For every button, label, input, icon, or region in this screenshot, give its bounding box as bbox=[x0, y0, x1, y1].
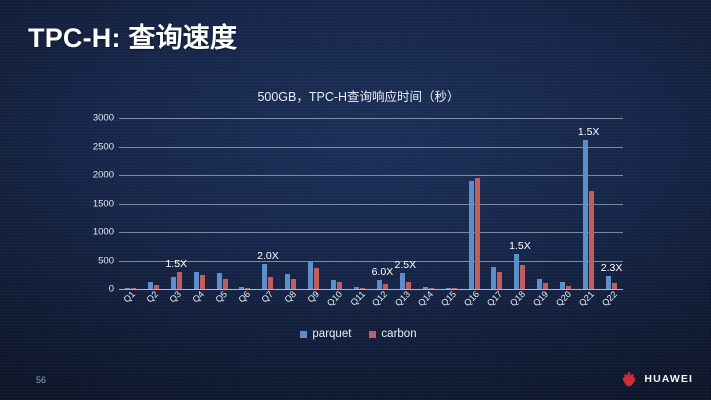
y-axis-tick-label: 500 bbox=[98, 255, 114, 266]
bar-group bbox=[256, 118, 279, 289]
bar-carbon bbox=[497, 272, 502, 289]
x-axis-tick-label: Q22 bbox=[599, 289, 618, 308]
bar-annotation: 1.5X bbox=[578, 126, 600, 138]
bar-parquet bbox=[377, 280, 382, 289]
x-axis-tick-label: Q21 bbox=[577, 289, 596, 308]
bar-annotation: 2.5X bbox=[395, 259, 417, 271]
y-axis-tick-label: 3000 bbox=[93, 113, 114, 124]
bar-group bbox=[463, 118, 486, 289]
x-axis-tick-label: Q4 bbox=[191, 289, 207, 305]
x-axis-tick-label: Q17 bbox=[485, 289, 504, 308]
x-axis-tick-label: Q8 bbox=[282, 289, 298, 305]
x-axis-tick-label: Q3 bbox=[168, 289, 184, 305]
bar-parquet bbox=[537, 279, 542, 289]
x-axis-tick-label: Q15 bbox=[439, 289, 458, 308]
bar-parquet bbox=[148, 282, 153, 289]
bar-carbon bbox=[223, 279, 228, 289]
x-axis-tick-label: Q12 bbox=[370, 289, 389, 308]
chart-plot-area: 050010001500200025003000 1.5X2.0X6.0X2.5… bbox=[119, 118, 623, 289]
x-axis-tick-label: Q6 bbox=[237, 289, 253, 305]
bar-group bbox=[508, 118, 531, 289]
chart-legend: parquetcarbon bbox=[86, 328, 631, 340]
chart-bars bbox=[119, 118, 623, 289]
bar-parquet bbox=[560, 282, 565, 289]
bar-parquet bbox=[606, 276, 611, 289]
bar-carbon bbox=[520, 265, 525, 289]
bar-annotation: 2.3X bbox=[601, 262, 623, 274]
bar-carbon bbox=[337, 282, 342, 289]
x-axis-tick-label: Q20 bbox=[554, 289, 573, 308]
bar-carbon bbox=[268, 277, 273, 289]
x-axis-tick-label: Q2 bbox=[145, 289, 161, 305]
x-axis-tick-label: Q7 bbox=[259, 289, 275, 305]
legend-swatch-icon bbox=[369, 331, 376, 338]
y-axis-tick-label: 2500 bbox=[93, 141, 114, 152]
bar-parquet bbox=[171, 277, 176, 289]
bar-parquet bbox=[583, 140, 588, 289]
slide-page-number: 56 bbox=[36, 375, 46, 385]
bar-annotation: 6.0X bbox=[372, 266, 394, 278]
y-axis-tick-label: 1500 bbox=[93, 198, 114, 209]
x-axis-tick-label: Q10 bbox=[325, 289, 344, 308]
bar-group bbox=[119, 118, 142, 289]
bar-annotation: 1.5X bbox=[165, 258, 187, 270]
bar-group bbox=[302, 118, 325, 289]
bar-carbon bbox=[291, 279, 296, 289]
bar-group bbox=[577, 118, 600, 289]
bar-group bbox=[531, 118, 554, 289]
x-axis-tick-label: Q14 bbox=[416, 289, 435, 308]
x-axis-tick-label: Q5 bbox=[214, 289, 230, 305]
bar-group bbox=[348, 118, 371, 289]
bar-carbon bbox=[406, 282, 411, 289]
brand-text: HUAWEI bbox=[644, 373, 693, 385]
bar-carbon bbox=[475, 178, 480, 289]
bar-parquet bbox=[285, 274, 290, 289]
bar-group bbox=[142, 118, 165, 289]
bar-carbon bbox=[200, 275, 205, 289]
bar-group bbox=[279, 118, 302, 289]
bar-parquet bbox=[491, 267, 496, 289]
bar-parquet bbox=[514, 254, 519, 289]
bar-group bbox=[325, 118, 348, 289]
bar-annotation: 2.0X bbox=[257, 250, 279, 262]
bar-group bbox=[371, 118, 394, 289]
bar-parquet bbox=[331, 280, 336, 289]
bar-group bbox=[211, 118, 234, 289]
legend-item-carbon[interactable]: carbon bbox=[369, 328, 416, 340]
y-axis-tick-label: 2000 bbox=[93, 170, 114, 181]
bar-parquet bbox=[262, 264, 267, 289]
legend-swatch-icon bbox=[300, 331, 307, 338]
x-axis-tick-label: Q16 bbox=[462, 289, 481, 308]
bar-group bbox=[417, 118, 440, 289]
bar-carbon bbox=[177, 272, 182, 289]
bar-annotation: 1.5X bbox=[509, 240, 531, 252]
bar-group bbox=[234, 118, 257, 289]
bar-carbon bbox=[314, 268, 319, 289]
bar-group bbox=[440, 118, 463, 289]
bar-parquet bbox=[400, 273, 405, 289]
x-axis-tick-label: Q19 bbox=[531, 289, 550, 308]
page-title: TPC-H: 查询速度 bbox=[28, 16, 237, 55]
x-axis-tick-label: Q11 bbox=[348, 289, 367, 308]
chart-container: 500GB，TPC-H查询响应时间（秒） 0500100015002000250… bbox=[86, 86, 631, 356]
bar-parquet bbox=[308, 261, 313, 289]
legend-item-parquet[interactable]: parquet bbox=[300, 328, 351, 340]
x-axis-tick-label: Q9 bbox=[305, 289, 321, 305]
huawei-logo: HUAWEI bbox=[619, 371, 693, 386]
y-axis-tick-label: 1000 bbox=[93, 227, 114, 238]
bar-group bbox=[188, 118, 211, 289]
chart-title: 500GB，TPC-H查询响应时间（秒） bbox=[86, 86, 631, 105]
bar-parquet bbox=[217, 273, 222, 289]
legend-label: carbon bbox=[381, 328, 416, 340]
x-axis-tick-label: Q13 bbox=[393, 289, 412, 308]
huawei-flower-icon bbox=[619, 371, 638, 386]
x-axis-tick-label: Q18 bbox=[508, 289, 527, 308]
slide-canvas: TPC-H: 查询速度 500GB，TPC-H查询响应时间（秒） 0500100… bbox=[0, 0, 711, 400]
bar-parquet bbox=[469, 181, 474, 289]
x-axis-tick-label: Q1 bbox=[122, 289, 138, 305]
bar-carbon bbox=[589, 191, 594, 289]
chart-x-axis-labels: Q1Q2Q3Q4Q5Q6Q7Q8Q9Q10Q11Q12Q13Q14Q15Q16Q… bbox=[119, 289, 623, 329]
bar-group bbox=[486, 118, 509, 289]
y-axis-tick-label: 0 bbox=[109, 284, 114, 295]
bar-parquet bbox=[194, 272, 199, 289]
legend-label: parquet bbox=[312, 328, 351, 340]
bar-group bbox=[554, 118, 577, 289]
